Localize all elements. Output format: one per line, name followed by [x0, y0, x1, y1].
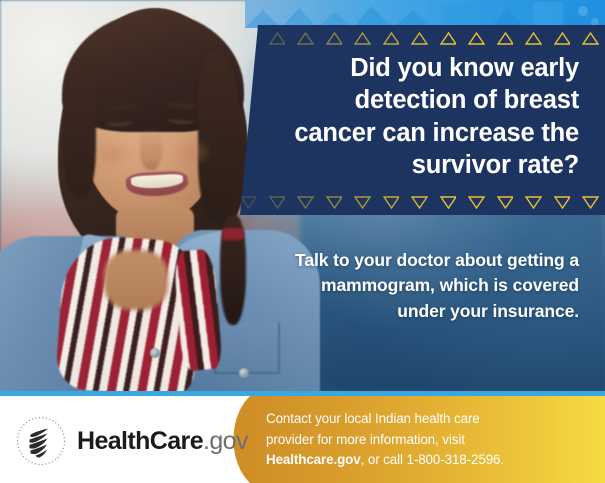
top-pattern-strip: [245, 0, 605, 28]
triangle-down-icon: [297, 196, 314, 209]
triangle-down-icon: [497, 196, 514, 209]
logo-wordmark: HealthCare.gov: [77, 427, 248, 456]
triangle-up-icon: [411, 32, 428, 45]
nose: [140, 126, 162, 170]
triangle-up-icon: [468, 32, 485, 45]
triangle-row-top: [240, 30, 605, 46]
triangle-down-icon: [525, 196, 542, 209]
triangle-down-icon: [269, 196, 286, 209]
triangle-up-icon: [326, 32, 343, 45]
geometric-pattern-icon: [245, 2, 605, 28]
triangle-up-icon: [269, 32, 286, 45]
hair-left: [62, 58, 96, 198]
triangle-row-bottom: [240, 194, 605, 210]
cheek-left: [92, 140, 132, 168]
scarf-neck-gap: [104, 250, 168, 310]
triangle-up-icon: [497, 32, 514, 45]
triangle-down-icon: [468, 196, 485, 209]
triangle-down-icon: [383, 196, 400, 209]
contact-information: Contact your local Indian health care pr…: [266, 409, 586, 471]
triangle-down-icon: [240, 196, 257, 209]
healthcare-gov-link[interactable]: Healthcare.gov: [266, 452, 361, 467]
jacket-button-upper: [150, 348, 160, 358]
triangle-down-icon: [440, 196, 457, 209]
triangle-down-icon: [354, 196, 371, 209]
triangle-down-icon: [582, 196, 599, 209]
triangle-up-icon: [554, 32, 571, 45]
hhs-eagle-seal-icon: [14, 414, 68, 468]
triangle-up-icon: [383, 32, 400, 45]
triangle-up-icon: [525, 32, 542, 45]
jacket-pocket: [214, 322, 280, 374]
braid-tie: [222, 228, 244, 240]
jacket-button-lower: [239, 368, 249, 378]
triangle-down-icon: [326, 196, 343, 209]
health-campaign-poster: Did you know early detection of breast c…: [0, 0, 605, 483]
headline-text: Did you know early detection of breast c…: [269, 52, 579, 182]
triangle-down-icon: [411, 196, 428, 209]
triangle-up-icon: [440, 32, 457, 45]
triangle-up-icon: [582, 32, 599, 45]
contact-phone: , or call 1-800-318-2596.: [361, 452, 504, 467]
triangle-up-icon: [354, 32, 371, 45]
headline-panel: Did you know early detection of breast c…: [240, 25, 605, 215]
healthcare-gov-logo[interactable]: HealthCare.gov: [14, 414, 248, 468]
contact-line-1: Contact your local Indian health care: [266, 411, 480, 426]
subhead-text: Talk to your doctor about getting a mamm…: [279, 248, 579, 324]
cheek-right: [172, 138, 212, 166]
logo-name-light: .gov: [203, 427, 248, 455]
triangle-down-icon: [554, 196, 571, 209]
triangle-up-icon: [297, 32, 314, 45]
logo-name-bold: HealthCare: [77, 427, 203, 455]
contact-line-2: provider for more information, visit: [266, 432, 465, 447]
